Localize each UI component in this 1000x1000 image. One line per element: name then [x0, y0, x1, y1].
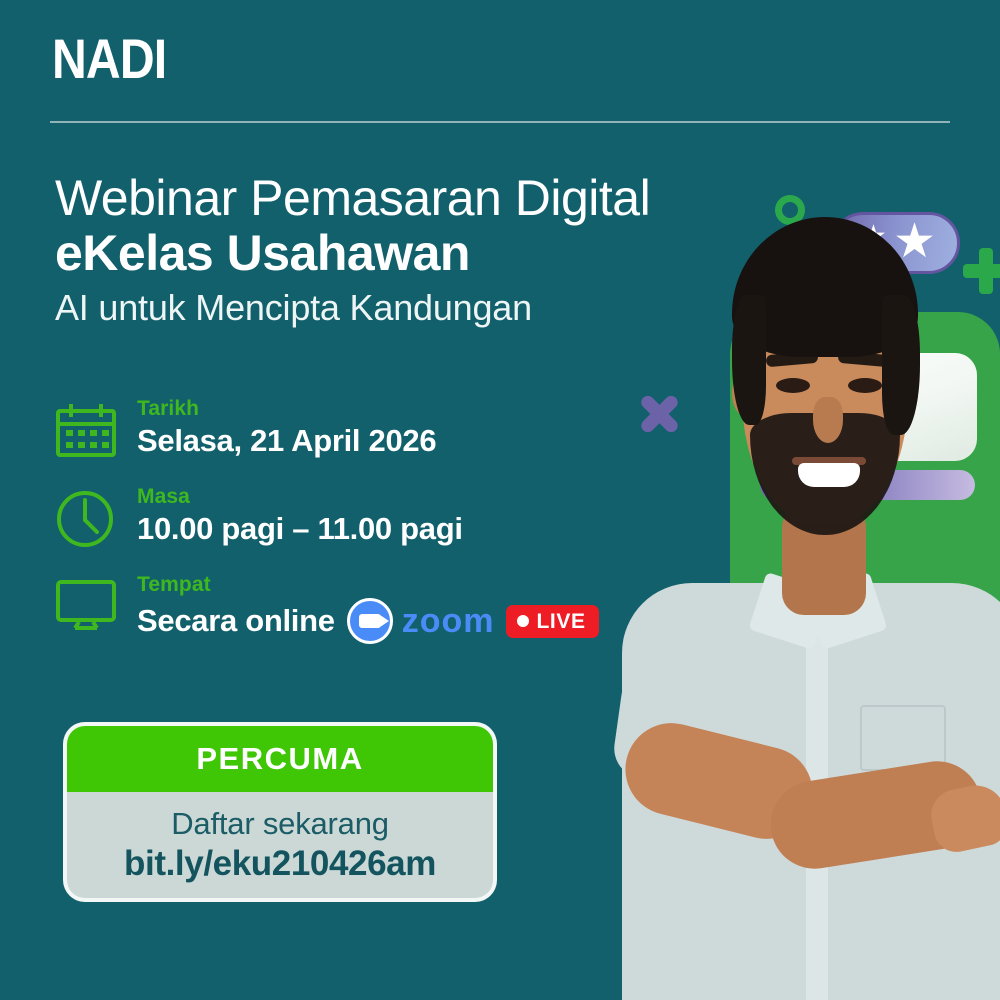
event-details: Tarikh Selasa, 21 April 2026 Masa 10.00 … — [55, 396, 675, 660]
cta-banner-label: PERCUMA — [196, 741, 363, 777]
monitor-icon — [55, 572, 137, 641]
title-line-2: eKelas Usahawan — [55, 225, 735, 281]
registration-cta-card[interactable]: PERCUMA Daftar sekarang bit.ly/eku210426… — [63, 722, 497, 902]
cta-subtitle: Daftar sekarang — [171, 806, 389, 842]
detail-label: Tempat — [137, 572, 599, 598]
date-value: Selasa, 21 April 2026 — [137, 422, 436, 461]
detail-row-date: Tarikh Selasa, 21 April 2026 — [55, 396, 675, 484]
calendar-icon — [55, 396, 137, 463]
time-value: 10.00 pagi – 11.00 pagi — [137, 510, 463, 549]
detail-value: 10.00 pagi – 11.00 pagi — [137, 510, 463, 549]
detail-value: Selasa, 21 April 2026 — [137, 422, 436, 461]
detail-text-venue: Tempat Secara online zoom LIVE — [137, 572, 599, 644]
detail-row-venue: Tempat Secara online zoom LIVE — [55, 572, 675, 660]
detail-label: Tarikh — [137, 396, 436, 422]
detail-row-time: Masa 10.00 pagi – 11.00 pagi — [55, 484, 675, 572]
cta-inner: PERCUMA Daftar sekarang bit.ly/eku210426… — [67, 726, 493, 898]
live-badge: LIVE — [506, 605, 598, 638]
live-label: LIVE — [536, 611, 585, 632]
cta-banner: PERCUMA — [67, 726, 493, 792]
clock-icon — [55, 484, 137, 553]
header-divider — [50, 121, 950, 123]
detail-value: Secara online zoom LIVE — [137, 598, 599, 644]
page-title: Webinar Pemasaran Digital eKelas Usahawa… — [55, 172, 735, 332]
detail-text-time: Masa 10.00 pagi – 11.00 pagi — [137, 484, 463, 549]
live-dot-icon — [517, 615, 529, 627]
venue-value: Secara online — [137, 602, 335, 641]
zoom-lockup: zoom — [347, 598, 495, 644]
detail-text-date: Tarikh Selasa, 21 April 2026 — [137, 396, 436, 461]
zoom-wordmark: zoom — [402, 604, 495, 638]
cta-url-link[interactable]: bit.ly/eku210426am — [124, 844, 436, 884]
cta-body: Daftar sekarang bit.ly/eku210426am — [67, 792, 493, 898]
title-line-1: Webinar Pemasaran Digital — [55, 172, 735, 225]
poster-canvas: ★ ★ NADI Webinar Pemasa — [0, 0, 1000, 1000]
video-camera-icon — [347, 598, 393, 644]
nadi-logo: NADI — [52, 26, 166, 91]
detail-label: Masa — [137, 484, 463, 510]
title-subtitle: AI untuk Mencipta Kandungan — [55, 285, 735, 332]
